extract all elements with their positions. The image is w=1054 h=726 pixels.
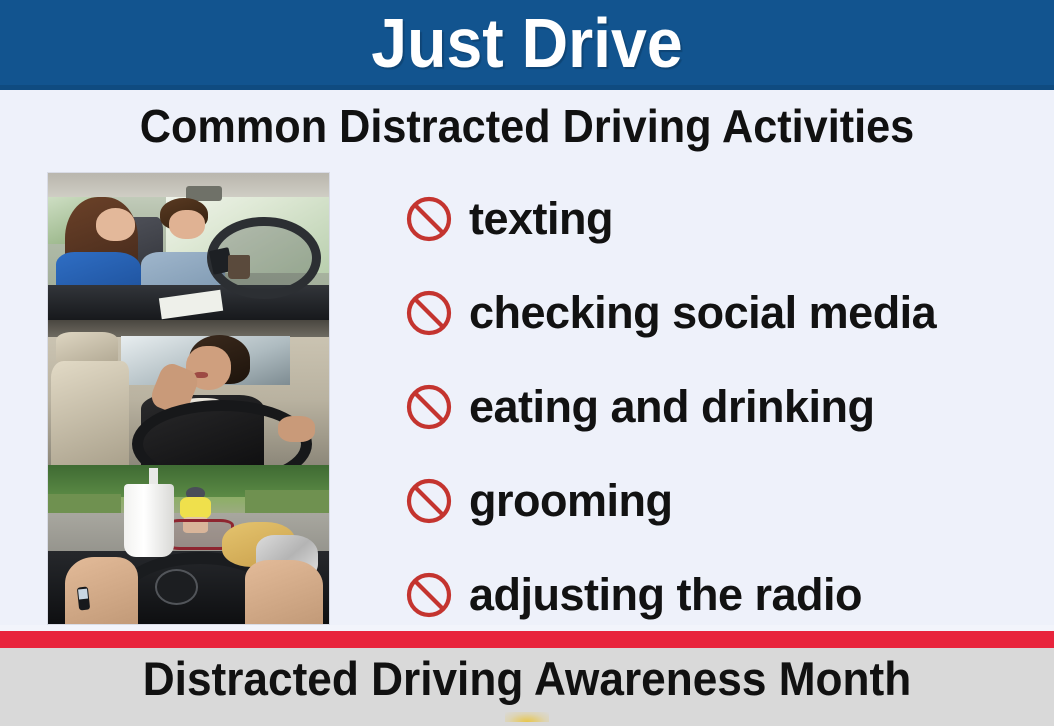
photo1-passenger-face bbox=[96, 208, 135, 240]
photo1-driver-face bbox=[169, 210, 206, 239]
just-drive-poster: Just Drive Common Distracted Driving Act… bbox=[0, 0, 1054, 726]
photo2-headrest bbox=[56, 332, 118, 364]
photo-collage bbox=[47, 172, 330, 625]
prohibition-icon bbox=[405, 571, 453, 619]
activity-label: texting bbox=[469, 194, 613, 244]
list-item: eating and drinking bbox=[405, 360, 1035, 454]
activity-label: checking social media bbox=[469, 288, 936, 338]
photo-driver-phone-sandwich bbox=[48, 465, 329, 624]
photo2-seat bbox=[51, 361, 130, 465]
prohibition-icon bbox=[405, 195, 453, 243]
photo3-right-hand bbox=[245, 560, 324, 624]
photo3-child-shirt bbox=[180, 497, 211, 519]
footer-text: Distracted Driving Awareness Month bbox=[32, 651, 1023, 707]
photo3-phone-screen bbox=[78, 588, 88, 599]
prohibition-icon bbox=[405, 383, 453, 431]
photo2-driver-hand bbox=[278, 416, 315, 442]
photo3-drink-cup bbox=[124, 484, 175, 557]
photo1-cup bbox=[228, 255, 250, 279]
header-bar-shadow bbox=[0, 85, 1054, 90]
prohibition-icon bbox=[405, 289, 453, 337]
distracted-driving-activity-list: texting checking social media eating and… bbox=[405, 172, 1035, 642]
photo-couple-driver-texting bbox=[48, 173, 329, 320]
footer-red-rule bbox=[0, 631, 1054, 648]
photo3-speedometer bbox=[155, 569, 198, 605]
activity-label: eating and drinking bbox=[469, 382, 875, 432]
photo-woman-applying-makeup bbox=[48, 320, 329, 465]
list-item: grooming bbox=[405, 454, 1035, 548]
section-heading: Common Distracted Driving Activities bbox=[32, 99, 1023, 153]
photo3-phone bbox=[77, 586, 90, 610]
list-item: texting bbox=[405, 172, 1035, 266]
photo3-left-hand bbox=[65, 557, 138, 624]
activity-label: grooming bbox=[469, 476, 672, 526]
page-title: Just Drive bbox=[42, 4, 1012, 82]
footer-logo-mark bbox=[505, 712, 549, 722]
activity-label: adjusting the radio bbox=[469, 570, 862, 620]
list-item: checking social media bbox=[405, 266, 1035, 360]
prohibition-icon bbox=[405, 477, 453, 525]
